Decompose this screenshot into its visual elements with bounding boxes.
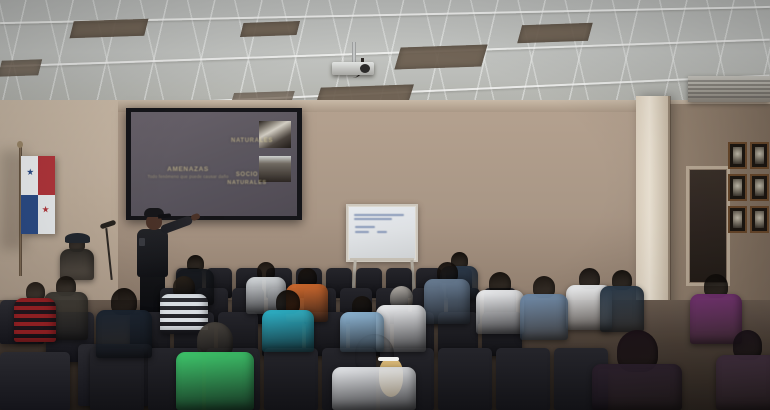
hat [65, 233, 90, 243]
chair[interactable] [438, 348, 492, 410]
torso [476, 290, 524, 334]
hair-tie [378, 357, 399, 361]
torso [14, 298, 56, 342]
torso [600, 286, 644, 332]
blue-shirt-attendee [424, 262, 470, 324]
dark-blue-attendee [600, 270, 644, 332]
torso [424, 279, 470, 324]
torso [96, 310, 152, 358]
long-dark-hair-foreground-attendee [592, 330, 682, 410]
striped-shirt-attendee [14, 282, 56, 342]
torso [332, 367, 416, 410]
audience [0, 0, 770, 410]
navy-shirt-attendee [96, 288, 152, 358]
torso [176, 352, 254, 410]
white-tshirt-attendee [476, 272, 524, 334]
conference-room-photo: AMENAZAS Todo fenómeno que puede causar … [0, 0, 770, 410]
light-blue-attendee [520, 276, 568, 340]
torso [592, 364, 682, 410]
blonde-ponytail-attendee [332, 334, 416, 410]
chair[interactable] [264, 348, 318, 410]
green-shirt-foreground-attendee [176, 322, 254, 410]
torso [520, 294, 568, 340]
right-foreground-attendee [716, 330, 770, 410]
chair[interactable] [0, 352, 70, 410]
teal-shirt-attendee [262, 290, 314, 352]
hat-wearing-attendee-left [60, 236, 94, 280]
torso [716, 355, 770, 410]
chair[interactable] [496, 348, 550, 410]
torso [262, 310, 314, 352]
